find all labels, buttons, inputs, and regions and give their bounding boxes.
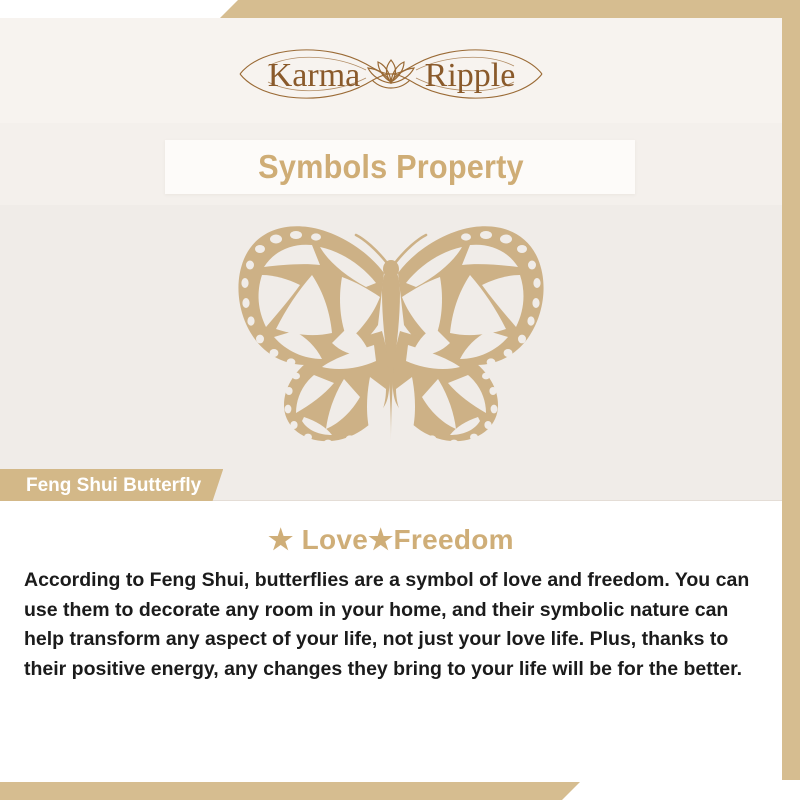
- brand-name-right: Ripple: [425, 57, 516, 94]
- subheading: ★ Love★Freedom: [0, 523, 782, 556]
- description-text: According to Feng Shui, butterflies are …: [0, 566, 782, 685]
- hero-stage: [0, 205, 782, 501]
- frame-right-band: [782, 0, 800, 780]
- logo-artwork: Karma Ripple: [226, 34, 556, 114]
- brand-name-left: Karma: [268, 57, 361, 94]
- frame-bottom-band: [0, 782, 580, 800]
- description-section: ★ Love★Freedom According to Feng Shui, b…: [0, 501, 782, 782]
- butterfly-icon: [216, 213, 566, 453]
- frame-top-band: [220, 0, 800, 18]
- butterfly-illustration: [216, 213, 566, 453]
- poster-content: Karma Ripple Symbols Property: [0, 18, 782, 782]
- brand-logo: Karma Ripple: [226, 34, 556, 114]
- status-badge: Feng Shui Butterfly: [0, 469, 223, 502]
- page-title: Symbols Property: [27, 140, 754, 194]
- poster-root: Karma Ripple Symbols Property: [0, 0, 800, 800]
- brand-header: Karma Ripple: [0, 18, 782, 130]
